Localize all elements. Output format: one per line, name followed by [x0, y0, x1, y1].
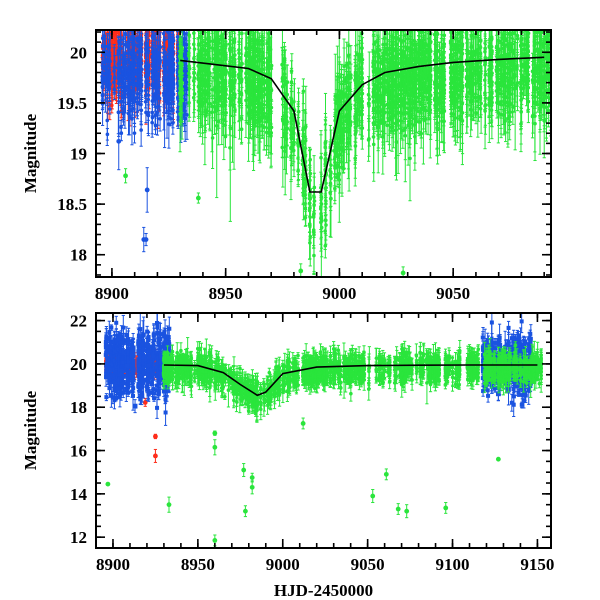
- data-point: [126, 22, 130, 26]
- data-point: [147, 73, 151, 77]
- data-point: [167, 20, 171, 24]
- data-point: [144, 23, 148, 27]
- data-point: [128, 16, 132, 20]
- data-point: [151, 25, 155, 29]
- data-point: [105, 24, 109, 28]
- data-point: [133, 100, 137, 104]
- plot-canvas: 89008950900090501818.51919.520Magnitude8…: [0, 0, 600, 600]
- data-point: [108, 24, 112, 28]
- data-point: [171, 121, 175, 125]
- data-point: [153, 26, 157, 30]
- data-point: [108, 53, 112, 57]
- data-point: [138, 22, 142, 26]
- data-point: [146, 98, 150, 102]
- data-point: [115, 25, 119, 29]
- data-point: [115, 19, 119, 23]
- data-point: [122, 15, 126, 19]
- data-point: [139, 79, 143, 83]
- data-point: [158, 59, 162, 63]
- data-point: [129, 21, 133, 25]
- data-point: [176, 21, 180, 25]
- data-point: [108, 107, 112, 111]
- panel-top-panel: 89008950900090501818.51919.520Magnitude: [21, 0, 553, 303]
- data-point: [137, 73, 141, 77]
- data-point: [169, 24, 173, 28]
- data-point: [169, 24, 173, 28]
- data-point: [112, 69, 116, 73]
- data-point: [103, 19, 107, 23]
- data-point: [137, 5, 141, 9]
- light-curve-figure: 89008950900090501818.51919.520Magnitude8…: [0, 0, 600, 600]
- data-point: [181, 25, 185, 29]
- data-point: [113, 17, 117, 21]
- data-point: [171, 108, 175, 112]
- data-point: [140, 89, 144, 93]
- data-point: [151, 46, 155, 50]
- data-point: [112, 87, 116, 91]
- data-point: [167, 14, 171, 18]
- data-point: [139, 128, 143, 132]
- data-point: [167, 23, 171, 27]
- data-point: [171, 25, 175, 29]
- data-point: [165, 20, 169, 24]
- data-point: [170, 0, 174, 3]
- data-point: [139, 25, 143, 29]
- data-point: [130, 117, 134, 121]
- data-point: [133, 131, 137, 135]
- data-point: [117, 14, 121, 18]
- data-point: [126, 43, 130, 47]
- data-point: [105, 119, 109, 123]
- data-point: [103, 34, 107, 38]
- data-point: [158, 117, 162, 121]
- data-point: [158, 97, 162, 101]
- data-point: [150, 111, 154, 115]
- data-point: [133, 23, 137, 27]
- data-point: [172, 77, 176, 81]
- data-point: [128, 19, 132, 23]
- data-point: [156, 72, 160, 76]
- data-point: [171, 61, 175, 65]
- data-point: [124, 89, 128, 93]
- data-layer-top-panel: [100, 0, 553, 279]
- data-point: [121, 107, 125, 111]
- data-point: [146, 23, 150, 27]
- data-point: [155, 25, 159, 29]
- data-point: [165, 96, 169, 100]
- data-point: [162, 25, 166, 29]
- data-point: [120, 131, 124, 135]
- data-point: [108, 74, 112, 78]
